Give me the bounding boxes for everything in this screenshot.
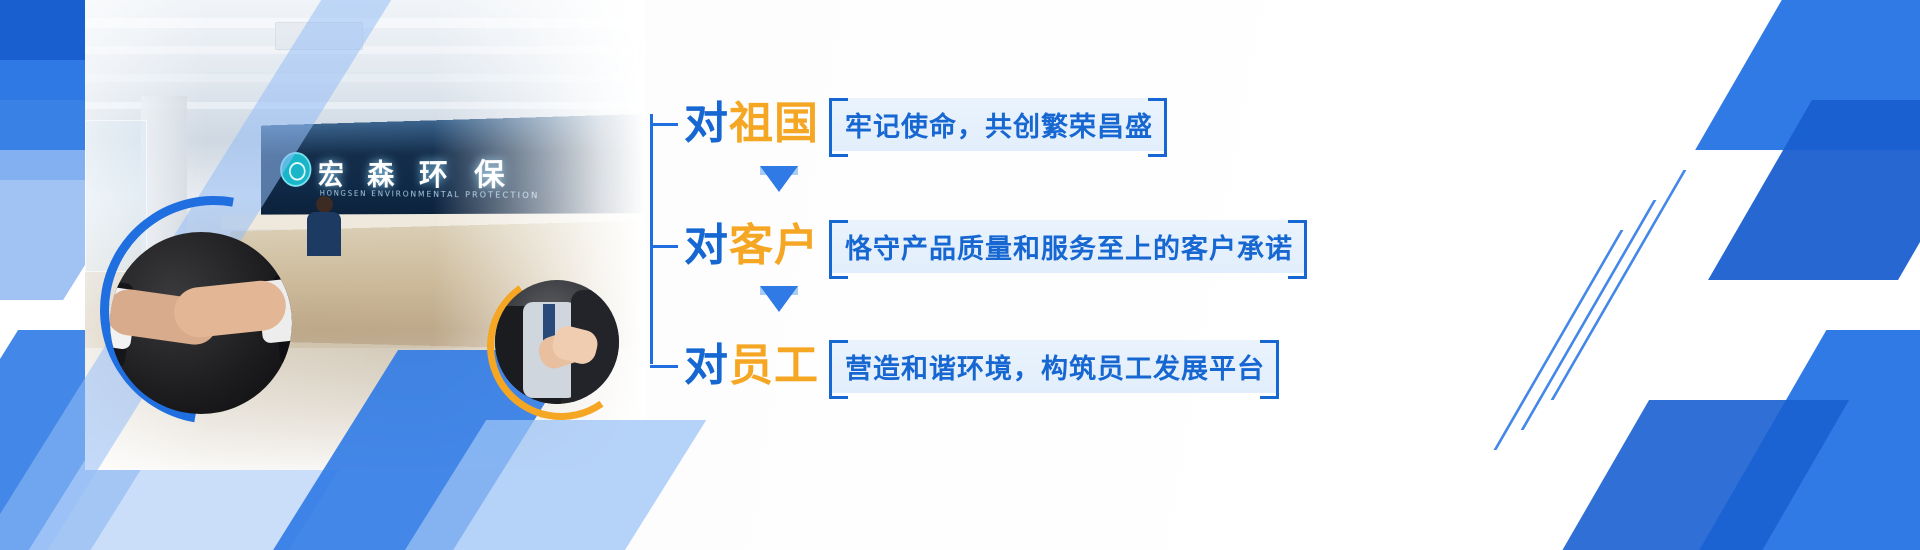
slogan-row-1: 对祖国 牢记使命，共创繁荣昌盛	[650, 96, 1167, 152]
down-arrow-icon-2	[760, 286, 798, 312]
slogan-statement-3: 营造和谐环境，构筑员工发展平台	[829, 340, 1279, 393]
slogan-target-2: 客户	[729, 220, 819, 271]
deco-line-right-2	[1521, 200, 1657, 430]
slogan-target-1: 祖国	[729, 98, 819, 149]
slogan-statement-2: 恪守产品质量和服务至上的客户承诺	[829, 220, 1307, 273]
down-arrow-icon-1	[760, 166, 798, 192]
deco-line-right-1	[1551, 170, 1687, 400]
connector-tick	[650, 123, 678, 126]
slogan-row-3: 对员工 营造和谐环境，构筑员工发展平台	[650, 338, 1279, 394]
slogan-heading-2: 对客户	[684, 224, 819, 268]
slogan-prefix-3: 对	[684, 340, 729, 391]
slogan-block: 对祖国 牢记使命，共创繁荣昌盛 对客户 恪守产品质量和服务至上的客户承诺 对员工…	[650, 70, 1350, 400]
handshake-circle-photo	[110, 232, 292, 414]
slogan-heading-1: 对祖国	[684, 102, 819, 146]
slogan-heading-3: 对员工	[684, 344, 819, 388]
deco-shape-bottom-right	[1694, 330, 1920, 550]
deco-shape-right-2	[1708, 100, 1920, 280]
connector-tick	[650, 365, 678, 368]
promo-banner: 宏 森 环 保 HONGSEN ENVIRONMENTAL PROTECTION	[0, 0, 1920, 550]
deco-line-right-3	[1493, 230, 1623, 450]
slogan-prefix-2: 对	[684, 220, 729, 271]
connector-tick	[650, 245, 678, 248]
deco-shape-top-right	[1695, 0, 1920, 150]
deco-shape-right-4	[1551, 400, 1849, 550]
slogan-statement-1: 牢记使命，共创繁荣昌盛	[829, 98, 1167, 151]
slogan-target-3: 员工	[729, 340, 819, 391]
slogan-row-2: 对客户 恪守产品质量和服务至上的客户承诺	[650, 218, 1307, 274]
slogan-prefix-1: 对	[684, 98, 729, 149]
applause-circle-photo	[495, 280, 619, 404]
